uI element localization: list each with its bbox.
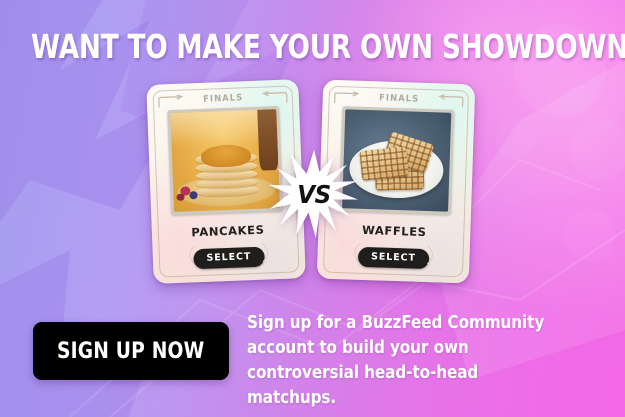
card-stage-label: FINALS — [378, 93, 419, 104]
versus-label: VS — [272, 148, 357, 240]
sign-up-now-button[interactable]: SIGN UP NOW — [33, 322, 229, 380]
sign-up-now-label: SIGN UP NOW — [57, 339, 204, 364]
bracket-arrow-left-icon — [158, 94, 186, 108]
select-decoration-right-icon — [260, 242, 275, 263]
bracket-arrow-right-icon — [435, 94, 463, 108]
promo-banner: WANT TO MAKE YOUR OWN SHOWDOWN? FINALS — [0, 0, 625, 417]
pancakes-photo — [170, 109, 280, 212]
card-photo-frame — [167, 106, 283, 215]
bracket-arrow-left-icon — [334, 91, 362, 105]
card-stage-label: FINALS — [203, 93, 244, 105]
select-decoration-right-icon — [425, 245, 440, 265]
select-button-waffles[interactable]: SELECT — [358, 247, 429, 269]
bracket-arrow-right-icon — [260, 91, 288, 105]
select-button-pancakes[interactable]: SELECT — [193, 247, 264, 270]
promo-description: Sign up for a BuzzFeed Community account… — [247, 311, 567, 411]
